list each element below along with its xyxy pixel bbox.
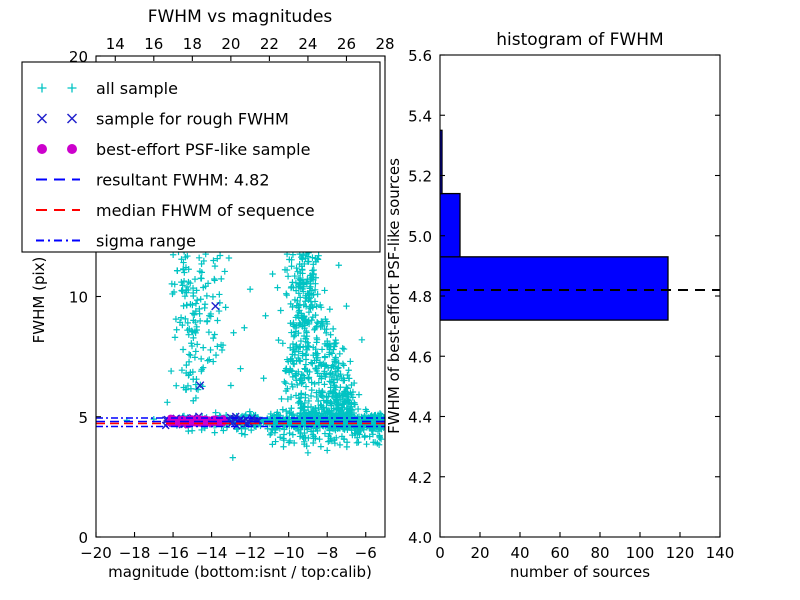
legend-item-label: resultant FWHM: 4.82: [96, 171, 270, 190]
svg-text:26: 26: [337, 35, 356, 53]
svg-text:5.0: 5.0: [408, 228, 432, 246]
svg-text:80: 80: [590, 544, 609, 562]
left-panel-xlabel: magnitude (bottom:isnt / top:calib): [108, 563, 372, 581]
svg-text:5.2: 5.2: [408, 168, 432, 186]
svg-text:4.4: 4.4: [408, 409, 432, 427]
right-panel-title: histogram of FWHM: [496, 30, 663, 50]
svg-text:28: 28: [375, 35, 394, 53]
svg-text:−6: −6: [355, 544, 377, 562]
svg-text:5.4: 5.4: [408, 107, 432, 125]
svg-text:4.6: 4.6: [408, 348, 432, 366]
svg-text:5.6: 5.6: [408, 47, 432, 65]
legend-item-label: median FHWM of sequence: [96, 201, 315, 220]
svg-text:120: 120: [666, 544, 695, 562]
legend-item-label: sample for rough FWHM: [96, 110, 289, 129]
svg-text:20: 20: [221, 35, 240, 53]
histogram-bar: [440, 257, 668, 320]
svg-text:140: 140: [706, 544, 735, 562]
svg-text:60: 60: [550, 544, 569, 562]
svg-text:20: 20: [470, 544, 489, 562]
svg-text:−14: −14: [196, 544, 228, 562]
svg-text:22: 22: [260, 35, 279, 53]
svg-text:−8: −8: [316, 544, 338, 562]
svg-text:24: 24: [298, 35, 317, 53]
left-panel-title: FWHM vs magnitudes: [148, 7, 333, 27]
svg-text:10: 10: [69, 289, 88, 307]
svg-text:40: 40: [510, 544, 529, 562]
svg-text:4.8: 4.8: [408, 288, 432, 306]
matplotlib-figure: FWHM vs magnitudes −20−18−16−14−12−10−8−…: [0, 0, 800, 600]
dot-icon: [37, 144, 47, 154]
svg-text:16: 16: [144, 35, 163, 53]
svg-text:0: 0: [78, 529, 88, 547]
svg-text:18: 18: [183, 35, 202, 53]
histogram-bar: [440, 194, 460, 257]
svg-text:−18: −18: [119, 544, 151, 562]
legend-item-label: all sample: [96, 79, 178, 98]
right-panel-xlabel: number of sources: [510, 563, 650, 581]
legend-box: all samplesample for rough FWHMbest-effo…: [22, 62, 380, 252]
svg-text:0: 0: [435, 544, 445, 562]
dot-icon: [67, 144, 77, 154]
figure-canvas: FWHM vs magnitudes −20−18−16−14−12−10−8−…: [0, 0, 800, 600]
svg-text:4.2: 4.2: [408, 469, 432, 487]
svg-text:−12: −12: [234, 544, 266, 562]
legend-item-label: best-effort PSF-like sample: [96, 140, 310, 159]
left-panel-ylabel: FWHM (pix): [30, 257, 48, 344]
legend-item-label: sigma range: [96, 232, 196, 251]
svg-text:−16: −16: [157, 544, 189, 562]
svg-text:4.0: 4.0: [408, 529, 432, 547]
svg-text:−10: −10: [273, 544, 305, 562]
svg-text:14: 14: [106, 35, 125, 53]
right-panel-ylabel: FWHM of best-effort PSF-like sources: [385, 158, 403, 434]
svg-text:5: 5: [78, 409, 88, 427]
svg-text:100: 100: [626, 544, 655, 562]
